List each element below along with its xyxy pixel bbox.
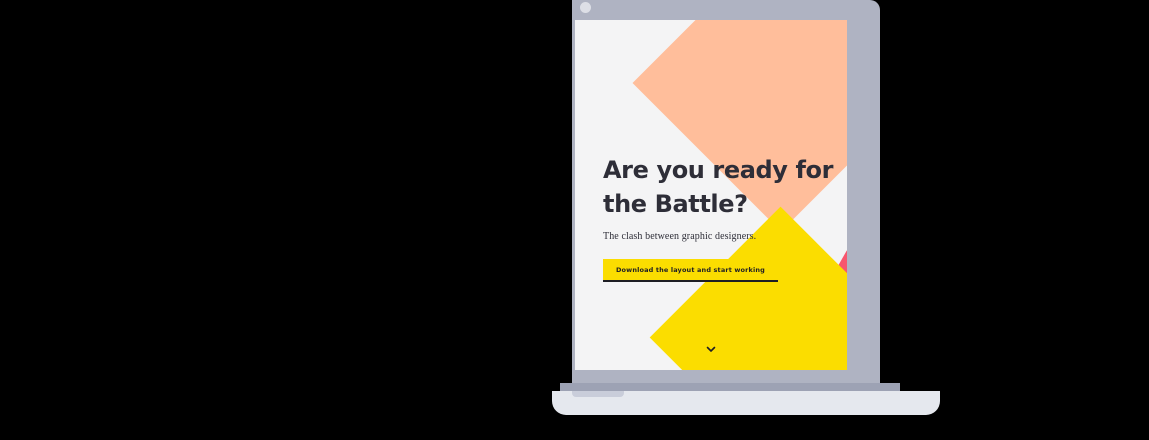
laptop-mockup: Are you ready for the Battle? The clash …	[560, 0, 900, 440]
laptop-screen: Are you ready for the Battle? The clash …	[575, 20, 847, 370]
laptop-bezel-chin	[572, 370, 880, 383]
hero-content: Are you ready for the Battle? The clash …	[603, 153, 847, 282]
camera-dot-icon	[580, 2, 591, 13]
page-title: Are you ready for the Battle?	[603, 153, 847, 221]
chevron-down-icon[interactable]	[705, 342, 717, 354]
page-canvas: Are you ready for the Battle? The clash …	[0, 0, 1149, 440]
laptop-base-notch	[572, 391, 624, 397]
cta-wrapper: Download the layout and start working	[603, 259, 778, 282]
download-layout-button[interactable]: Download the layout and start working	[603, 259, 778, 282]
page-subtitle: The clash between graphic designers.	[603, 230, 847, 243]
